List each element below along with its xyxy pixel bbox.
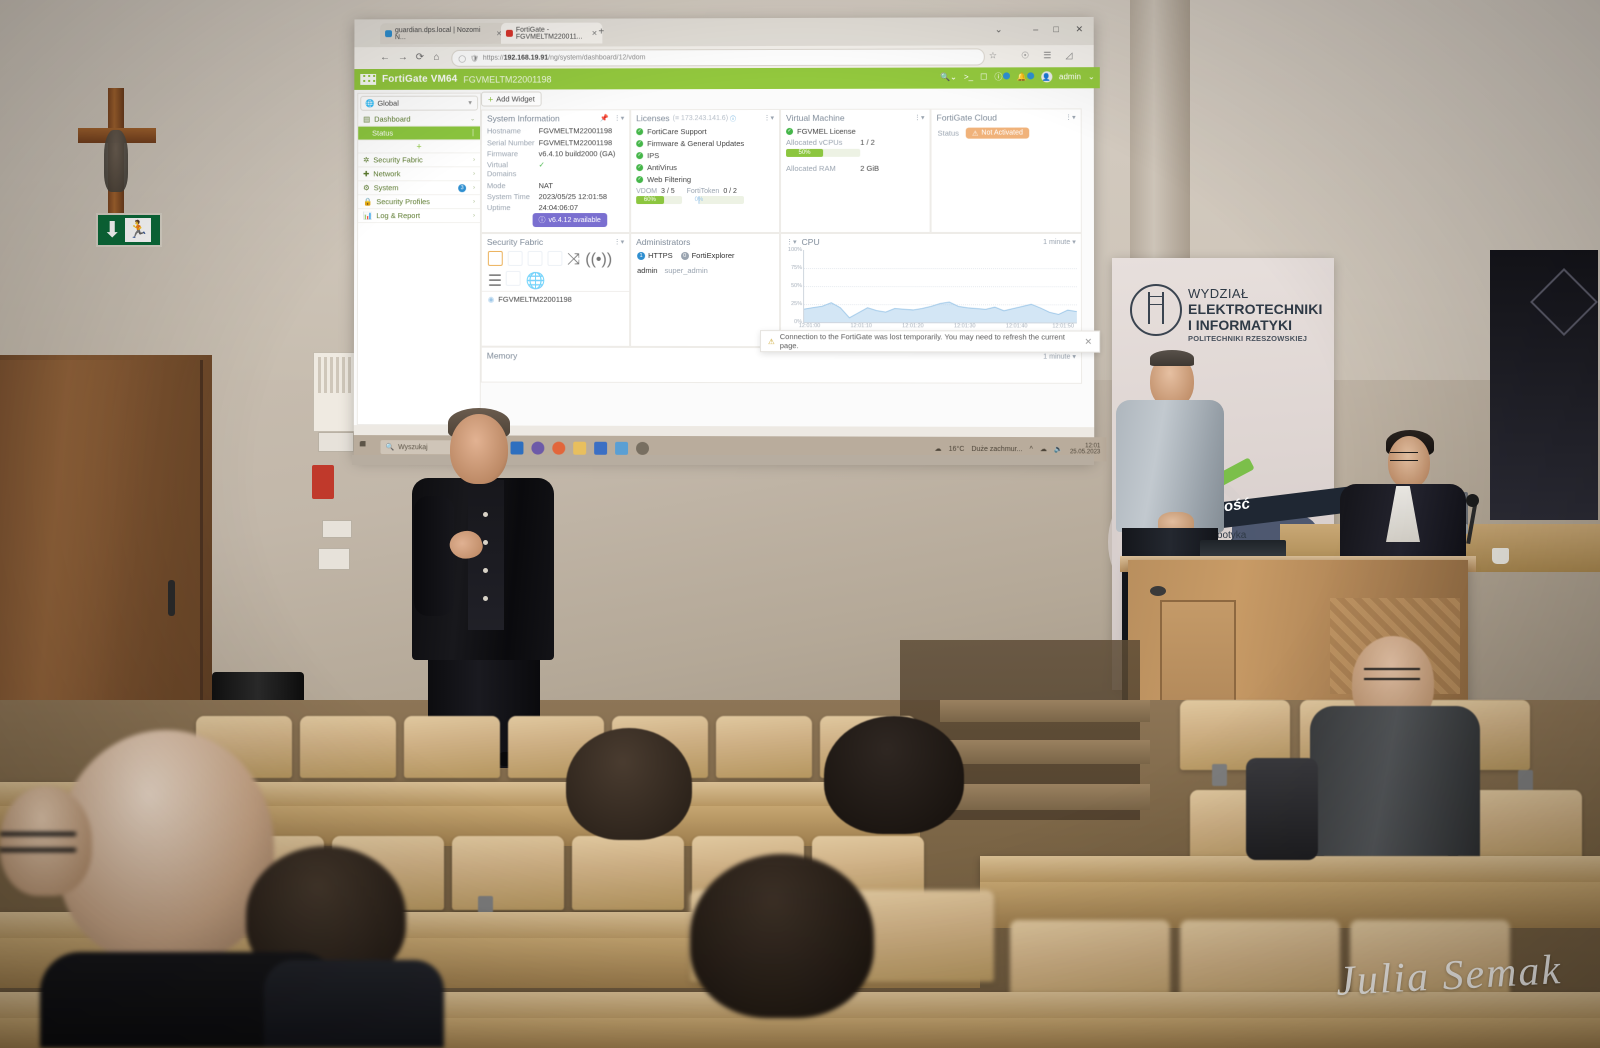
vdom-usage-bar: 60%	[636, 196, 664, 204]
sidebar-item-log-report[interactable]: 📊 Log & Report ›	[358, 209, 480, 223]
pylon-detail	[1148, 292, 1164, 324]
avatar[interactable]: 👤	[1041, 71, 1052, 82]
cloud-status-row: Status ⚠ Not Activated	[932, 124, 1081, 141]
widget-licenses: Licenses (≡ 173.243.141.6) ⓘ ⋮▾ ✓FortiCa…	[630, 109, 780, 233]
tab-label: FortiGate - FGVMELTM220011...	[516, 26, 587, 40]
paper-cup	[1492, 548, 1509, 564]
shield-icon: 🛡	[470, 54, 479, 62]
add-widget-label: Add Widget	[496, 94, 535, 103]
time-range-selector[interactable]: 1 minute ▾	[1043, 238, 1076, 246]
check-icon: ✓	[636, 176, 643, 183]
widget-title: Security Fabric ⋮▾	[482, 234, 629, 249]
door-handle[interactable]	[168, 580, 175, 616]
presenter-head	[450, 414, 508, 484]
tab-favicon	[506, 30, 513, 37]
license-item: ✓FortiCare Support	[631, 125, 779, 137]
light-switch	[322, 520, 352, 538]
crucifix-figure	[104, 130, 128, 192]
cli-console-icon[interactable]: >_	[964, 72, 973, 81]
taskbar-clock[interactable]: 12:01 25.05.2023	[1070, 443, 1100, 456]
status-badge: ⚠ Not Activated	[966, 128, 1029, 139]
minimize-button[interactable]: –	[1033, 24, 1038, 34]
tab-label: guardian.dps.local | Nozomi N...	[395, 26, 491, 40]
account-icon[interactable]: ◿	[1065, 50, 1072, 61]
floor-plan-grid	[318, 357, 356, 393]
status-badge: 3	[458, 184, 466, 192]
fortigate-header: FortiGate VM64 FGVMELTM22001198 🔍⌄ >_ ☐ …	[354, 67, 1100, 90]
fullscreen-icon[interactable]: ☐	[980, 72, 987, 81]
info-icon: ⓘ	[539, 215, 546, 225]
fabric-fortianalyzer-icon[interactable]	[508, 251, 523, 266]
y-axis-tick: 50%	[791, 283, 802, 289]
header-tools: 🔍⌄ >_ ☐ ⓘ 🔔 👤 admin ⌄	[940, 71, 1095, 82]
maximize-button[interactable]: □	[1053, 24, 1058, 34]
forward-icon[interactable]: →	[398, 52, 408, 63]
banner-line-3: I INFORMATYKI	[1188, 317, 1292, 333]
tab-favicon	[385, 30, 392, 37]
license-ip: (≡ 173.243.141.6)	[673, 115, 728, 122]
pin-icon[interactable]: 📌	[600, 114, 609, 122]
weather-text: Duże zachmur...	[971, 445, 1022, 452]
vdom-label: Global	[377, 99, 398, 108]
vm-vcpu-row: Allocated vCPUs1 / 2	[781, 137, 930, 149]
x-axis-tick: 12:01:10	[850, 323, 872, 329]
volume-icon[interactable]: 🔈	[1054, 445, 1063, 453]
device-serial: FGVMELTM22001198	[463, 74, 551, 84]
search-icon[interactable]: 🔍⌄	[940, 73, 957, 82]
widget-menu-icon[interactable]: ⋮▾	[1065, 113, 1076, 121]
wall-socket-2	[318, 548, 350, 570]
chevron-right-icon: ›	[473, 157, 475, 163]
dashboard-icon: ▤	[363, 115, 370, 124]
browser-tab-guardian[interactable]: guardian.dps.local | Nozomi N... ✕	[380, 23, 507, 44]
warning-icon: ⚠	[768, 337, 775, 346]
pin-icon: │	[471, 130, 475, 136]
lock-icon: 🔒	[363, 197, 372, 206]
sidebar-item-label: System	[374, 183, 399, 192]
chevron-right-icon: ›	[473, 199, 475, 205]
dashboard-content: + Add Widget System Information 📌 ⋮▾ Hos…	[481, 90, 1091, 427]
bench-right	[980, 856, 1600, 884]
close-icon[interactable]: ✕	[592, 29, 598, 37]
document-icon[interactable]	[615, 441, 628, 454]
license-item: ✓AntiVirus	[631, 161, 779, 173]
x-axis-tick: 12:01:00	[799, 323, 820, 329]
widget-title: System Information 📌 ⋮▾	[482, 110, 629, 125]
weather-temp: 16°C	[949, 445, 965, 452]
chevron-down-icon: ⌄	[470, 116, 475, 123]
seated-host-glasses	[1390, 452, 1418, 461]
chevron-right-icon: ›	[473, 213, 475, 219]
toast-message: Connection to the FortiGate was lost tem…	[780, 332, 1080, 351]
presenter-arm	[414, 496, 454, 616]
wall-socket	[318, 432, 354, 452]
cpu-chart-plot: 100% 75% 50% 25% 0% 12:01:00 12:01:10 12…	[803, 250, 1077, 323]
microphone-head	[1466, 494, 1479, 507]
fabric-wifi-icon[interactable]: ((•))	[585, 251, 598, 264]
check-icon: ✓	[786, 127, 793, 134]
chart-bar-icon: 📊	[363, 211, 372, 220]
back-icon[interactable]: ←	[380, 52, 390, 63]
mouse	[1150, 586, 1166, 596]
sidebar-item-security-profiles[interactable]: 🔒 Security Profiles ›	[358, 195, 480, 209]
exit-arrow-icon: ⬇	[103, 219, 121, 241]
check-icon: ✓	[636, 128, 643, 135]
address-bar[interactable]: ◯ 🛡 https://192.168.19.91/ng/system/dash…	[451, 48, 984, 66]
vdom-selector[interactable]: 🌐 Global ▼	[360, 96, 478, 111]
fortigate-body: 🌐 Global ▼ ▤ Dashboard ⌄ Status │ + ✲ Se…	[354, 88, 1094, 427]
search-placeholder: Wyszukaj	[398, 444, 428, 451]
chevron-down-icon: ▼	[467, 100, 473, 106]
vm-license: ✓FGVMEL License	[781, 125, 930, 137]
connection-lost-toast: ⚠ Connection to the FortiGate was lost t…	[760, 330, 1100, 353]
widget-menu-icon[interactable]: ⋮▾	[914, 114, 925, 122]
sidebar-item-label: Log & Report	[376, 211, 420, 220]
admin-user-label[interactable]: admin	[1059, 72, 1081, 81]
y-axis-tick: 25%	[791, 301, 802, 307]
cloud-icon: ☁	[935, 445, 942, 453]
widget-menu-icon[interactable]: ⋮▾	[614, 114, 624, 122]
y-axis-tick: 100%	[788, 247, 802, 253]
x-axis-tick: 12:01:40	[1006, 323, 1028, 329]
fabric-switch-icon[interactable]: ⤨	[567, 251, 580, 264]
fabric-sandbox-icon[interactable]: ☰	[488, 271, 501, 284]
chevron-right-icon: ›	[473, 171, 475, 177]
vdom-token-row: VDOM 3 / 5 FortiToken 0 / 2	[631, 185, 779, 195]
sidebar-item-label: Network	[373, 169, 400, 178]
notifications-icon[interactable]: 🔔	[1017, 72, 1034, 81]
banner-line-4: POLITECHNIKI RZESZOWSKIEJ	[1188, 334, 1307, 343]
info-icon[interactable]: ⓘ	[730, 114, 736, 123]
table-row: System Time2023/05/25 12:01:58	[482, 191, 629, 202]
reload-icon[interactable]: ⟳	[416, 52, 424, 63]
exit-runner-icon: 🏃	[125, 218, 151, 242]
lecture-hall-photo: ⬇ 🏃 guardian.dps.local | Nozomi N... ✕ F…	[0, 0, 1600, 1048]
step-1	[940, 700, 1150, 722]
fabric-device-row[interactable]: ◉ FGVMELTM22001198	[482, 291, 629, 307]
projection-screen: guardian.dps.local | Nozomi N... ✕ Forti…	[354, 17, 1094, 461]
check-icon: ✓	[636, 152, 643, 159]
vcpu-usage-bar: 50%	[786, 149, 823, 157]
widget-title: FortiGate Cloud ⋮▾	[932, 109, 1081, 124]
cpu-area-series	[804, 250, 1077, 322]
sidebar-item-label: Dashboard	[374, 115, 410, 124]
check-circle-icon[interactable]	[531, 441, 544, 454]
widget-menu-icon[interactable]: ⋮▾	[614, 238, 624, 246]
bookmark-star-icon[interactable]: ☆	[989, 50, 997, 61]
bitwarden-icon[interactable]	[594, 441, 607, 454]
table-row: Firmwarev6.4.10 build2000 (GA)	[482, 148, 629, 160]
y-axis-tick: 75%	[791, 265, 802, 271]
seated-host-head	[1388, 436, 1430, 488]
sidebar-item-system[interactable]: ⚙ System 3 ›	[358, 181, 480, 195]
add-widget-button[interactable]: + Add Widget	[481, 91, 542, 106]
windows-start-icon[interactable]	[360, 441, 373, 454]
product-name: FortiGate VM64	[382, 74, 457, 85]
taskbar-tray: ☁ 16°C Duże zachmur... ^ ☁ 🔈 12:01 25.05…	[934, 442, 1100, 455]
fortigate-logo-icon	[360, 74, 376, 85]
emergency-exit-icon: ⬇ 🏃	[96, 213, 162, 247]
widget-fortigate-cloud: FortiGate Cloud ⋮▾ Status ⚠ Not Activate…	[931, 108, 1082, 233]
fabric-root-icon[interactable]	[488, 251, 503, 266]
browser-tab-fortigate[interactable]: FortiGate - FGVMELTM220011... ✕	[501, 23, 602, 44]
save-to-pocket-icon[interactable]: ☉	[1021, 50, 1029, 61]
banner-line-1: WYDZIAŁ	[1188, 286, 1249, 301]
fortitoken-usage-bar: 0%	[698, 196, 700, 204]
second-presenter-hair	[1150, 350, 1194, 366]
license-item: ✓IPS	[631, 149, 779, 161]
chevron-down-icon[interactable]: ⌄	[1088, 72, 1095, 81]
fabric-web-icon[interactable]: 🌐	[526, 271, 539, 284]
fabric-fortimanager-icon[interactable]	[528, 251, 543, 266]
network-icon[interactable]: ☁	[1040, 445, 1047, 453]
license-item: ✓Firmware & General Updates	[631, 137, 779, 149]
widget-security-fabric: Security Fabric ⋮▾ ⤨ ((•)) ☰ 🌐	[481, 233, 630, 347]
system-gear-icon: ⚙	[363, 183, 370, 192]
widget-administrators: Administrators 1HTTPS 0FortiExplorer adm…	[630, 233, 780, 347]
admin-counts: 1HTTPS 0FortiExplorer	[631, 249, 779, 262]
fire-alarm-icon	[312, 465, 334, 499]
add-dashboard-button[interactable]: +	[358, 140, 480, 153]
sidebar-item-status[interactable]: Status │	[358, 126, 480, 140]
x-axis-tick: 12:01:30	[954, 323, 976, 329]
folder-icon[interactable]	[573, 441, 586, 454]
close-window-button[interactable]: ✕	[1076, 24, 1084, 35]
x-axis-tick: 12:01:50	[1052, 323, 1074, 329]
firefox-icon[interactable]	[552, 441, 565, 454]
table-row: Virtual Domains✓	[482, 159, 629, 179]
home-icon[interactable]: ⌂	[434, 52, 440, 63]
sidebar: 🌐 Global ▼ ▤ Dashboard ⌄ Status │ + ✲ Se…	[357, 93, 481, 426]
table-row: Uptime24:04:06:07	[482, 202, 629, 213]
widget-title: Administrators	[631, 234, 779, 249]
widget-title: Virtual Machine ⋮▾	[781, 110, 929, 125]
widget-title: Licenses (≡ 173.243.141.6) ⓘ ⋮▾	[631, 110, 779, 125]
sidebar-item-network[interactable]: ✚ Network ›	[358, 167, 480, 181]
check-icon: ✓	[636, 164, 643, 171]
widget-menu-icon[interactable]: ⋮▾	[786, 238, 797, 246]
library-icon[interactable]: ☰	[1043, 50, 1051, 61]
outlook-icon[interactable]	[511, 441, 524, 454]
search-icon: 🔍	[385, 443, 394, 451]
sidebar-item-label: Security Fabric	[373, 155, 423, 164]
sidebar-item-label: Status	[372, 129, 393, 138]
widget-title: ⋮▾ CPU 1 minute ▾	[781, 234, 1081, 249]
widget-virtual-machine: Virtual Machine ⋮▾ ✓FGVMEL License Alloc…	[780, 109, 931, 233]
globe-icon: 🌐	[365, 99, 374, 108]
warning-icon: ⚠	[972, 129, 978, 137]
tracker-circle-icon: ◯	[458, 54, 466, 62]
chevron-down-icon[interactable]: ⌄	[995, 24, 1003, 35]
fabric-icon: ✲	[363, 155, 369, 164]
plus-icon: +	[488, 94, 493, 104]
banner-line-2: ELEKTROTECHNIKI	[1188, 301, 1323, 317]
sidebar-item-label: Security Profiles	[376, 197, 430, 206]
table-row: HostnameFGVMELTM22001198	[482, 125, 629, 137]
vm-ram-row: Allocated RAM2 GiB	[781, 162, 930, 174]
fabric-forticlient-icon[interactable]	[547, 251, 562, 266]
time-range-selector[interactable]: 1 minute ▾	[1043, 353, 1076, 361]
url-text: https://192.168.19.91/ng/system/dashboar…	[483, 54, 646, 61]
https-count-badge: 1	[637, 251, 645, 259]
table-row: Serial NumberFGVMELTM22001198	[482, 137, 629, 149]
wall-column	[1130, 0, 1190, 270]
fabric-fortimail-icon[interactable]	[506, 271, 521, 286]
network-icon: ✚	[363, 169, 369, 178]
widget-menu-icon[interactable]: ⋮▾	[763, 114, 774, 122]
admin-row: admin super_admin	[631, 262, 779, 279]
settings-gear-icon[interactable]	[636, 441, 649, 454]
chevron-up-icon[interactable]: ^	[1030, 446, 1033, 453]
fabric-icon-grid: ⤨ ((•)) ☰ 🌐	[482, 249, 619, 288]
device-icon: ◉	[488, 295, 495, 304]
sidebar-item-security-fabric[interactable]: ✲ Security Fabric ›	[358, 153, 480, 167]
lecture-hall-door[interactable]	[0, 360, 203, 710]
license-item: ✓Web Filtering	[631, 173, 779, 185]
sidebar-item-dashboard[interactable]: ▤ Dashboard ⌄	[358, 113, 480, 127]
explorer-count-badge: 0	[681, 251, 689, 259]
chevron-right-icon: ›	[473, 185, 475, 191]
table-row: ModeNAT	[482, 180, 629, 191]
x-axis-tick: 12:01:20	[902, 323, 924, 329]
check-icon: ✓	[636, 140, 643, 147]
help-icon[interactable]: ⓘ	[994, 71, 1009, 82]
new-tab-button[interactable]: +	[598, 27, 604, 38]
firmware-update-badge[interactable]: ⓘ v6.4.12 available	[533, 213, 607, 227]
close-icon[interactable]: ✕	[1084, 336, 1092, 347]
